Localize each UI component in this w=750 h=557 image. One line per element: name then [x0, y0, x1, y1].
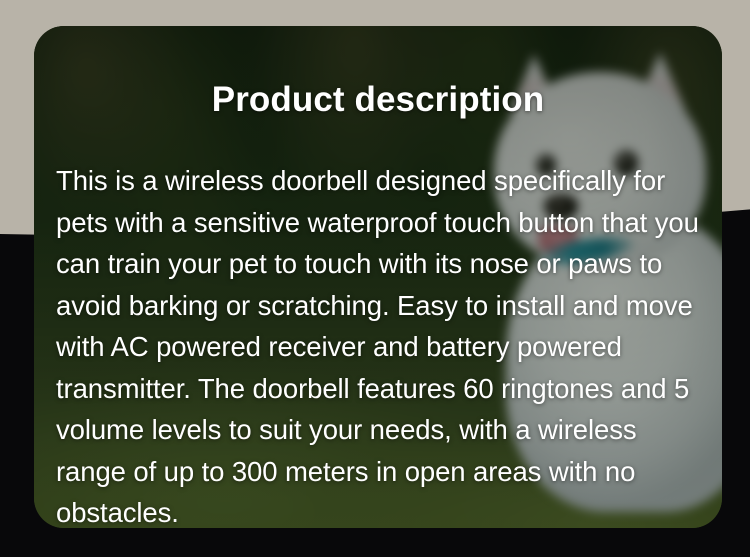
page-title: Product description	[34, 80, 722, 120]
product-description-screenshot: Product description This is a wireless d…	[0, 0, 750, 557]
product-description-text: This is a wireless doorbell designed spe…	[56, 160, 702, 528]
card-content: Product description This is a wireless d…	[34, 26, 722, 528]
product-description-card: Product description This is a wireless d…	[34, 26, 722, 528]
